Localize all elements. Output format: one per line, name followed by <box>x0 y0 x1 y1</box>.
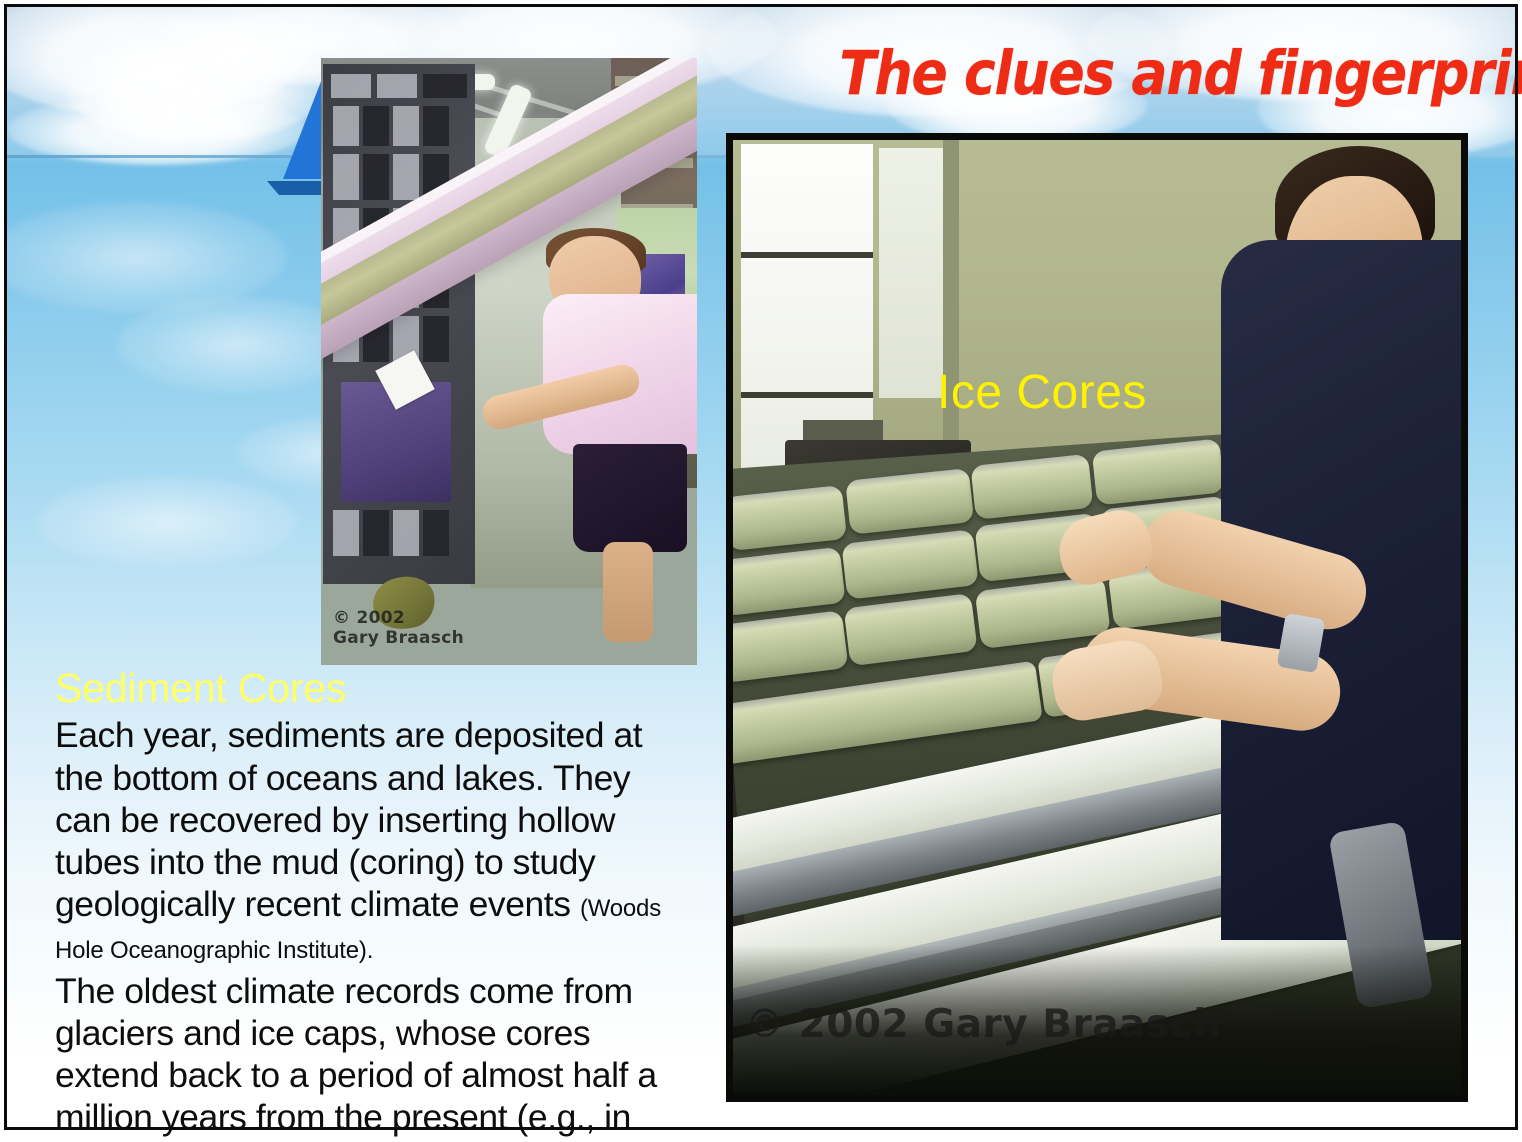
ice-cores-label: Ice Cores <box>937 365 1147 420</box>
researcher-leg <box>603 542 653 642</box>
ice-core-photo: Ice Cores © 2002 Gary Braasch <box>726 133 1468 1102</box>
lab-window-secondary <box>879 148 943 398</box>
photo-credit-line2: Gary Braasch <box>333 628 464 649</box>
researcher-shorts <box>573 444 687 552</box>
photo-credit-right: © 2002 Gary Braasch <box>745 1002 1221 1047</box>
water-reflection <box>7 202 287 312</box>
sediment-core-photo: © 2002 Gary Braasch <box>321 58 697 665</box>
slide-canvas: The clues and fingerprints <box>0 0 1522 1142</box>
photo-credit-left: © 2002 Gary Braasch <box>333 608 464 649</box>
paragraph-sediment-main: Each year, sediments are deposited at th… <box>55 715 642 924</box>
water-reflection <box>37 477 297 567</box>
page-title: The clues and fingerprints <box>839 38 1508 109</box>
body-text-block: Sediment Cores Each year, sediments are … <box>55 666 680 1142</box>
paragraph-ice: The oldest climate records come from gla… <box>55 970 680 1142</box>
paragraph-sediment: Each year, sediments are deposited at th… <box>55 714 680 967</box>
window-frame <box>943 140 959 470</box>
sediment-cores-heading: Sediment Cores <box>55 666 680 710</box>
photo-credit-line1: © 2002 <box>333 608 464 629</box>
